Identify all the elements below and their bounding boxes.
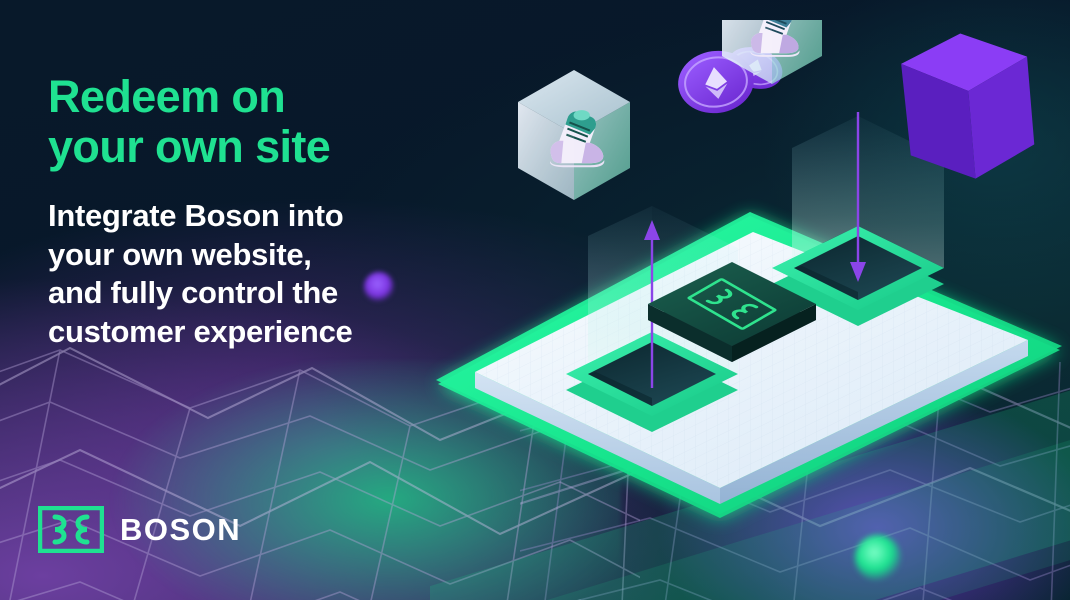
page-title: Redeem on your own site <box>48 72 478 173</box>
platform-grid-texture <box>475 232 1028 488</box>
boson-logo[interactable]: BOSON <box>38 506 241 553</box>
promo-banner: Redeem on your own site Integrate Boson … <box>0 0 1070 600</box>
boson-glyph-icon <box>38 506 104 553</box>
page-subcopy: Integrate Boson into your own website, a… <box>48 197 478 352</box>
isometric-scene <box>420 20 1070 600</box>
nft-cube-sneaker-lower <box>518 70 630 200</box>
boson-wordmark: BOSON <box>120 512 241 548</box>
copy-block: Redeem on your own site Integrate Boson … <box>48 72 478 352</box>
purple-glow-dot <box>364 272 394 302</box>
